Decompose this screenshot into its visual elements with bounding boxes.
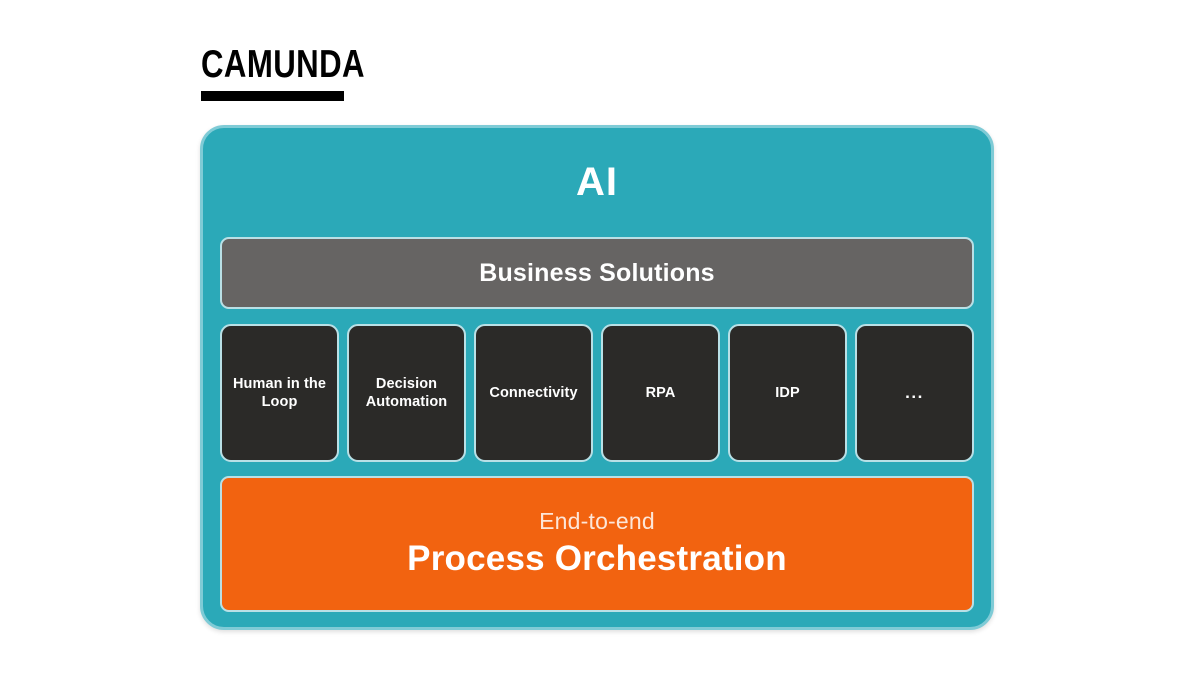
capability-card-label: IDP	[775, 384, 799, 402]
capability-card-connectivity: Connectivity	[474, 324, 593, 462]
ai-layer-label: AI	[576, 162, 618, 202]
slide-canvas: CAMUNDA AI Business Solutions Human in t…	[0, 0, 1200, 675]
capability-card-human-in-the-loop: Human in the Loop	[220, 324, 339, 462]
capability-card-more: ...	[855, 324, 974, 462]
capabilities-layer: Human in the Loop Decision Automation Co…	[220, 324, 974, 462]
camunda-wordmark: CAMUNDA	[201, 45, 441, 85]
business-solutions-label: Business Solutions	[479, 259, 715, 288]
capability-card-label: Connectivity	[489, 384, 577, 402]
capability-card-decision-automation: Decision Automation	[347, 324, 466, 462]
orchestration-kicker-label: End-to-end	[539, 509, 655, 534]
capability-card-idp: IDP	[728, 324, 847, 462]
capability-card-rpa: RPA	[601, 324, 720, 462]
camunda-logo: CAMUNDA	[201, 45, 501, 101]
capability-card-label: ...	[905, 382, 924, 403]
capability-card-label: Human in the Loop	[228, 375, 331, 411]
logo-underline-bar	[201, 91, 344, 101]
ai-layer: AI	[203, 128, 991, 236]
process-orchestration-layer: End-to-end Process Orchestration	[220, 476, 974, 612]
capability-card-label: RPA	[646, 384, 676, 402]
business-solutions-layer: Business Solutions	[220, 237, 974, 309]
platform-stack-frame: AI Business Solutions Human in the Loop …	[200, 125, 994, 630]
capability-card-label: Decision Automation	[355, 375, 458, 411]
orchestration-title-label: Process Orchestration	[407, 540, 787, 579]
